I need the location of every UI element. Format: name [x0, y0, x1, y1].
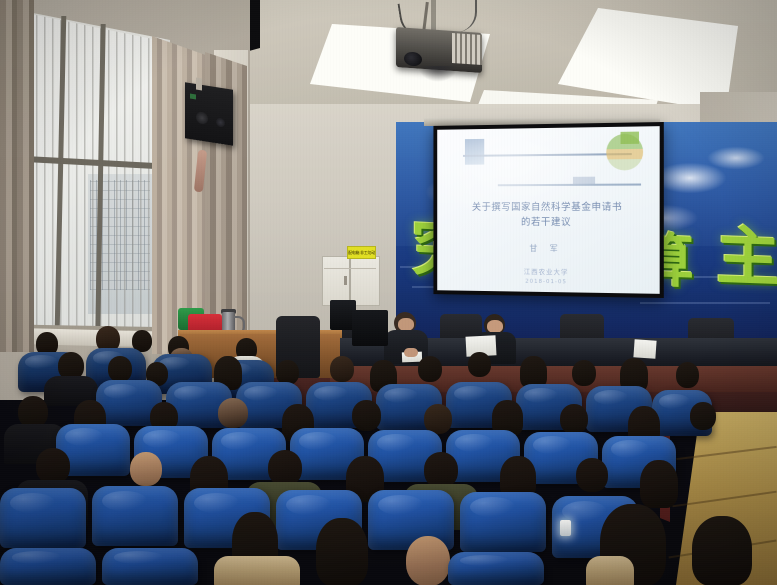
- slide-title: 关于撰写国家自然科学基金申请书 的若干建议: [437, 200, 659, 231]
- audience-head: [576, 458, 608, 492]
- cabinet-handle[interactable]: [344, 276, 347, 285]
- slide-organization: 江西农业大学: [437, 265, 659, 278]
- audience-seat: [448, 552, 544, 585]
- audience-head: [36, 448, 70, 484]
- audience-shoulders: [214, 556, 300, 585]
- audience-head: [418, 356, 442, 382]
- slide-title-line1: 关于撰写国家自然科学基金申请书: [437, 200, 659, 215]
- presenter-left-hand: [404, 348, 418, 357]
- curtain-left: [0, 0, 34, 352]
- audience-head: [130, 452, 162, 486]
- backdrop-character: 主: [716, 225, 777, 291]
- audience-head: [560, 404, 588, 434]
- lecture-hall-photo: 配电箱 非工勿动 究 算 主 关于撰写国家自然科学基金申请书 的若干建议 甘 军…: [0, 0, 777, 585]
- audience-head: [692, 516, 752, 585]
- curtain-right: [152, 36, 214, 354]
- audience-head: [316, 518, 368, 585]
- monitor: [352, 310, 388, 346]
- audience-seat: [92, 486, 178, 546]
- speaker-led-icon: [190, 94, 196, 100]
- slide-title-line2: 的若干建议: [437, 215, 659, 231]
- speaker-bracket: [196, 78, 202, 91]
- backdrop-wave: [640, 302, 770, 304]
- warning-sign: 配电箱 非工勿动: [347, 246, 376, 259]
- audience-seat: [0, 548, 96, 585]
- cabinet-line: [324, 268, 376, 269]
- slide-logo-cap: [620, 131, 638, 143]
- audience-head: [572, 360, 596, 386]
- audience-head: [690, 402, 716, 430]
- phone-screen[interactable]: [560, 520, 571, 536]
- presenter-papers: [633, 339, 656, 358]
- slide-decoration: [465, 139, 484, 165]
- slide-decoration: [573, 177, 595, 184]
- audience-head: [424, 452, 458, 488]
- audience-head: [330, 356, 354, 382]
- audience-shoulders: [586, 556, 634, 585]
- audience-head: [468, 352, 491, 377]
- audience-head: [352, 400, 381, 431]
- electrical-cabinet: [322, 256, 380, 306]
- audience-seat: [102, 548, 198, 585]
- projector-vent: [452, 33, 482, 65]
- slide-rule: [498, 183, 642, 186]
- audience-head: [676, 362, 699, 388]
- audience-head: [406, 536, 450, 585]
- wall-speaker: [185, 82, 233, 146]
- audience-head: [218, 398, 248, 428]
- projection-screen: 关于撰写国家自然科学基金申请书 的若干建议 甘 军 江西农业大学 2018-01…: [437, 126, 659, 294]
- projector-shadow: [418, 66, 458, 82]
- audience-head: [640, 460, 678, 508]
- cabinet-door-split: [349, 258, 351, 302]
- audience-seat: [0, 488, 86, 548]
- audience-seat: [460, 492, 546, 552]
- warning-sign-label: 配电箱 非工勿动: [348, 251, 375, 255]
- audience-head: [268, 450, 302, 486]
- slide-author: 甘 军: [437, 242, 659, 255]
- projection-screen-frame: 关于撰写国家自然科学基金申请书 的若干建议 甘 军 江西农业大学 2018-01…: [433, 122, 663, 298]
- audience-head: [108, 356, 132, 382]
- slide-date: 2018-01-05: [437, 277, 659, 286]
